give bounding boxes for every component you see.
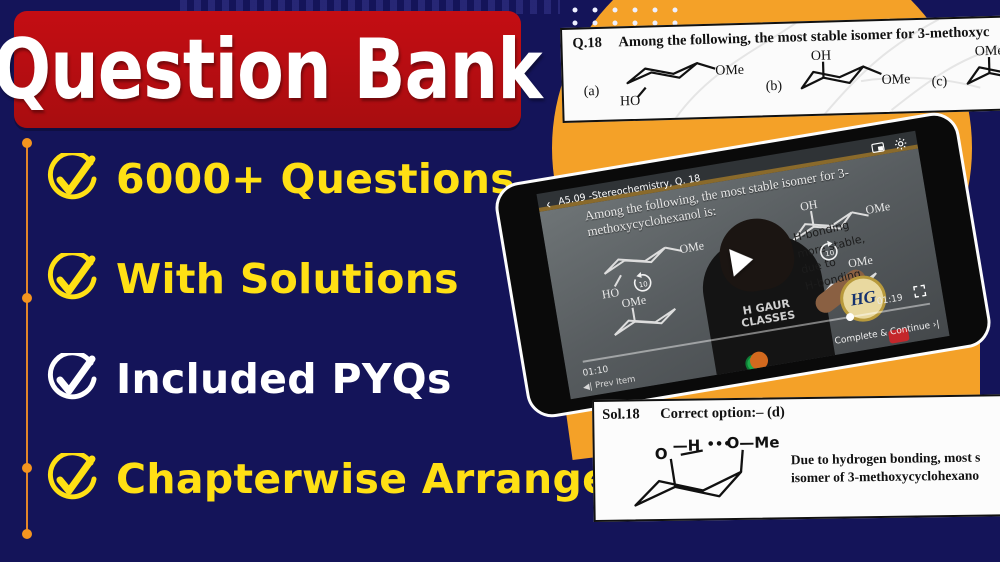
svg-text:10: 10: [638, 280, 648, 289]
check-circle-icon: [46, 453, 98, 505]
picture-in-picture-icon[interactable]: [870, 140, 886, 160]
replay-10-icon[interactable]: 10: [627, 267, 657, 297]
chevron-left-icon[interactable]: ‹: [545, 196, 552, 212]
title-banner: Question Bank: [14, 11, 521, 128]
svg-text:OH: OH: [799, 197, 819, 214]
svg-text:OMe: OMe: [881, 72, 910, 88]
play-icon[interactable]: [729, 245, 755, 276]
check-circle-icon: [46, 253, 98, 305]
feature-label: Included PYQs: [116, 359, 452, 400]
timeline-dot: [22, 529, 32, 539]
page-title: Question Bank: [0, 28, 542, 111]
timeline-decoration: [21, 138, 33, 538]
feature-item-chapterwise: Chapterwise Arranged: [46, 440, 606, 518]
shirt-text: H GAUR CLASSES: [722, 295, 813, 333]
svg-text:10: 10: [824, 248, 834, 257]
timeline-dot: [22, 293, 32, 303]
option-label-a: (a): [584, 84, 600, 100]
timeline-dot: [22, 463, 32, 473]
svg-text:HO: HO: [620, 94, 641, 108]
check-circle-icon: [46, 353, 98, 405]
svg-text:(c): (c): [599, 338, 600, 355]
solution-card: Sol.18 Correct option:– (d) O —H ••• O—M…: [592, 394, 1000, 522]
solution-molecule-icon: O —H ••• O—Me: [614, 421, 805, 522]
prev-icon: ◀|: [582, 382, 593, 393]
svg-text:O—Me: O—Me: [726, 433, 779, 452]
svg-text:—H: —H: [673, 436, 701, 454]
feature-label: Chapterwise Arranged: [116, 459, 640, 500]
solution-body: Due to hydrogen bonding, most s isomer o…: [791, 448, 1000, 488]
molecule-b-icon: OH OMe: [795, 43, 932, 103]
svg-text:OMe: OMe: [678, 238, 705, 256]
video-surface[interactable]: Among the following, the most stable iso…: [536, 131, 949, 400]
question-number: Q.18: [572, 34, 618, 52]
svg-text:OMe: OMe: [715, 63, 744, 79]
svg-text:OMe: OMe: [975, 44, 1000, 60]
solution-number: Sol.18: [602, 406, 660, 424]
feature-label: 6000+ Questions: [116, 159, 515, 200]
forward-10-icon[interactable]: 10: [814, 236, 844, 266]
svg-text:O: O: [655, 445, 668, 463]
gear-icon[interactable]: [893, 136, 909, 156]
solution-title: Correct option:– (d): [660, 404, 785, 423]
svg-text:OH: OH: [811, 48, 832, 64]
timeline-dot: [22, 138, 32, 148]
option-label-b: (b): [766, 79, 783, 95]
molecule-a-icon: OMe HO: [615, 52, 756, 108]
question-options: (a) OMe HO (b) OH OMe: [563, 40, 1000, 111]
molecule-c-icon: OMe: [961, 39, 1000, 97]
timeline-line: [26, 142, 28, 538]
promo-graphic: Question Bank 6000+ Questions: [0, 0, 1000, 562]
check-circle-icon: [46, 153, 98, 205]
question-card: Q.18 Among the following, the most stabl…: [560, 15, 1000, 123]
feature-label: With Solutions: [116, 259, 459, 300]
option-label-c: (c): [931, 74, 947, 90]
